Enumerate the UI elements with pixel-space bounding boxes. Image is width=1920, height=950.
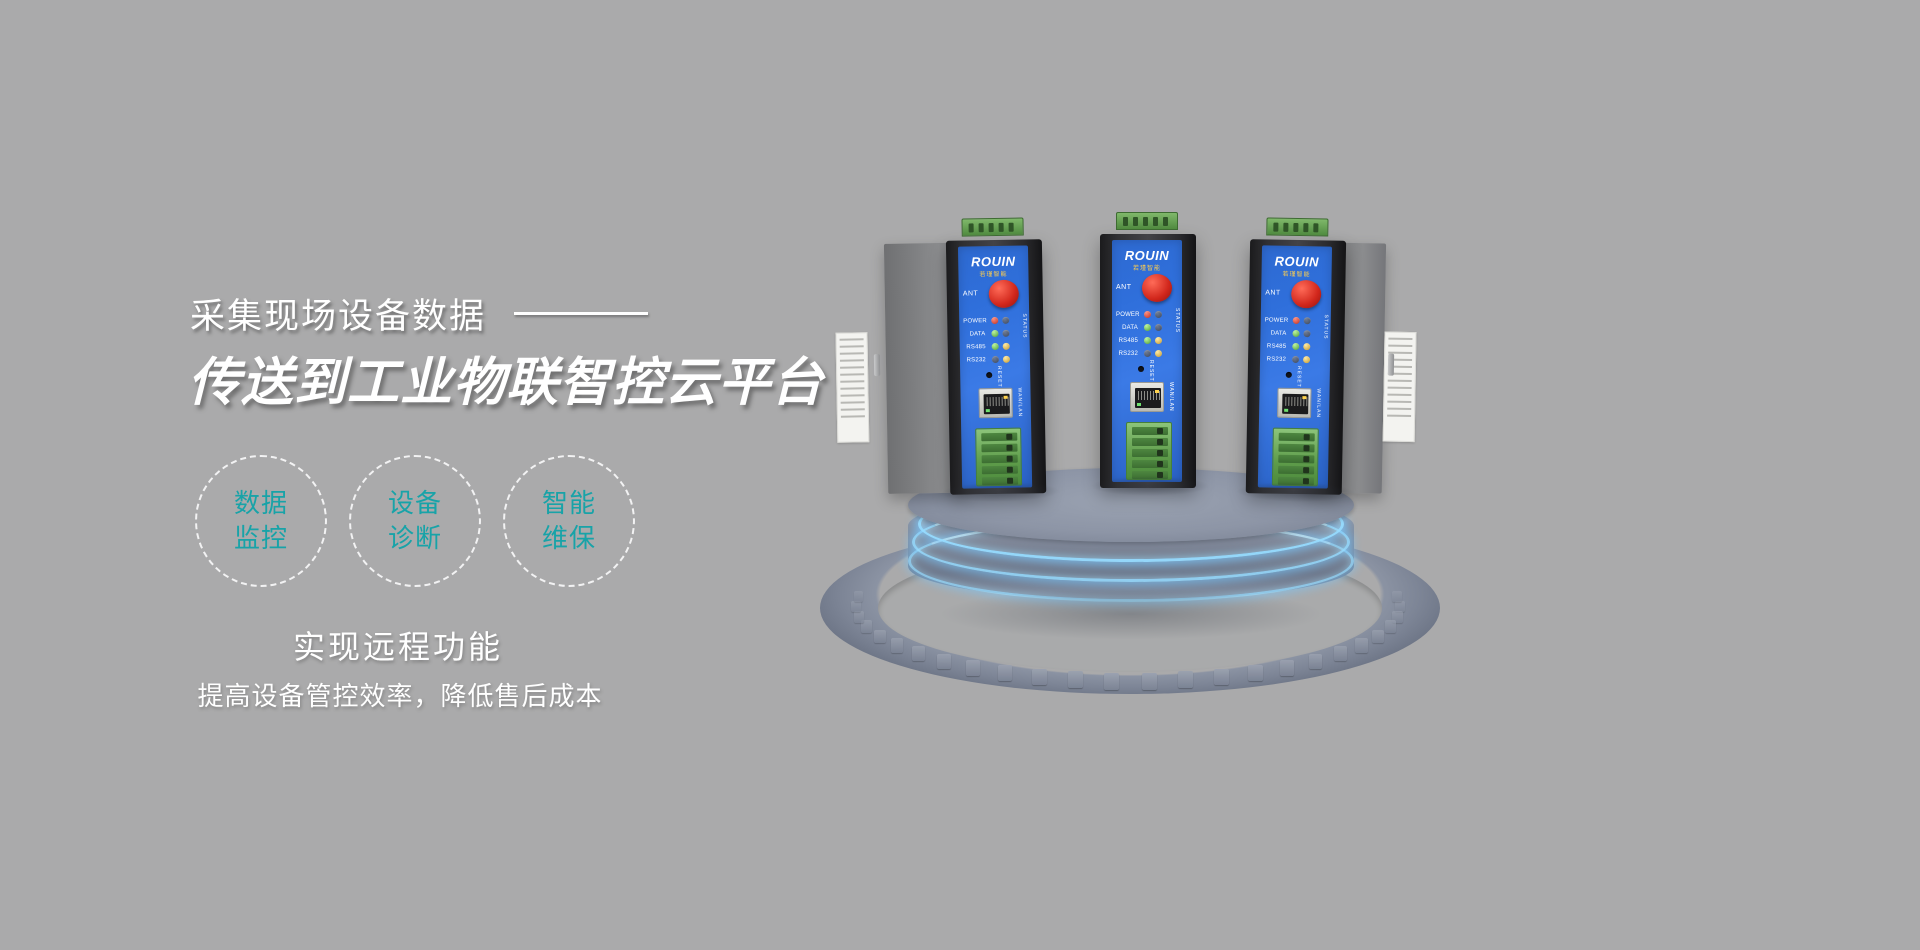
rj45-pin	[999, 397, 1000, 406]
gear-tooth	[1068, 671, 1083, 688]
led-indicator-icon	[1292, 343, 1299, 350]
led-label: DATA	[963, 331, 987, 337]
feature-circle-smart-maintenance[interactable]: 智能 维保	[503, 455, 635, 587]
led-indicator-icon	[992, 343, 999, 350]
rj45-pin	[1150, 391, 1151, 400]
gear-tooth	[1334, 646, 1347, 661]
led-indicator-icon	[1003, 356, 1010, 363]
top-terminal-block	[1266, 217, 1328, 236]
device-front-panel: ROUIN 若瑾智能 ANT POWERDATARS485RS232 STATU…	[958, 245, 1032, 488]
gear-tooth	[874, 630, 886, 643]
brand-logo: ROUIN	[958, 253, 1028, 269]
led-row: DATA	[1264, 326, 1326, 340]
gear-tooth	[998, 665, 1012, 681]
terminal-slot	[1132, 427, 1168, 435]
led-indicator-list: POWERDATARS485RS232	[1116, 308, 1178, 360]
gear-tooth	[1178, 671, 1193, 688]
rj45-pin	[1138, 391, 1139, 400]
gear-tooth	[854, 611, 865, 623]
rj45-pin	[1141, 391, 1142, 400]
terminal-slot	[981, 444, 1017, 453]
antenna-connector-icon	[1291, 280, 1321, 309]
gear-tooth	[912, 646, 925, 661]
led-indicator-icon	[1304, 317, 1311, 324]
reset-label: RESET	[996, 366, 1002, 388]
reset-label: RESET	[1148, 360, 1154, 382]
led-row: POWER	[963, 313, 1025, 327]
led-indicator-icon	[1144, 350, 1151, 357]
gear-tooth	[1214, 669, 1229, 686]
gear-tooth	[1392, 591, 1401, 601]
rj45-act-led	[1155, 390, 1159, 393]
status-label: STATUS	[1174, 308, 1180, 333]
led-row: RS485	[1264, 339, 1326, 353]
gear-tooth	[891, 638, 904, 652]
reset-label: RESET	[1296, 366, 1302, 388]
rj45-link-led	[986, 409, 990, 412]
led-row: RS232	[964, 352, 1026, 366]
led-row: POWER	[1265, 313, 1327, 327]
gear-tooth	[1372, 630, 1384, 643]
eyebrow-row: 采集现场设备数据	[190, 288, 648, 339]
gear-tooth	[1355, 638, 1368, 652]
rj45-act-led	[1302, 396, 1306, 399]
gear-tooth	[966, 660, 980, 676]
rj45-pin	[1285, 397, 1286, 406]
gear-tooth	[1142, 673, 1157, 690]
terminal-slot	[1132, 449, 1168, 457]
led-label: RS232	[1264, 356, 1288, 362]
brand-logo: ROUIN	[1112, 248, 1182, 263]
product-scene: ROUIN 若瑾智能 ANT POWERDATARS485RS232 STATU…	[800, 180, 1560, 740]
led-row: RS232	[1264, 352, 1326, 366]
led-label: POWER	[1265, 317, 1289, 323]
led-indicator-icon	[1144, 311, 1151, 318]
terminal-slot	[982, 455, 1018, 464]
led-label: RS232	[1116, 351, 1140, 357]
sub-description: 提高设备管控效率，降低售后成本	[140, 676, 660, 713]
sub-headline: 实现远程功能	[188, 622, 608, 668]
led-indicator-icon	[1144, 337, 1151, 344]
led-label: RS485	[964, 344, 988, 350]
gear-tooth	[937, 654, 951, 669]
rj45-pin	[1002, 397, 1003, 406]
device-spec-label	[1383, 332, 1417, 443]
gateway-device-middle[interactable]: ROUIN 若瑾智能 ANT POWERDATARS485RS232 STATU…	[1100, 226, 1196, 488]
feature-circle-device-diagnostics[interactable]: 设备 诊断	[349, 455, 481, 587]
led-label: POWER	[963, 318, 987, 324]
led-label: POWER	[1116, 312, 1140, 318]
gear-tooth	[1104, 673, 1119, 690]
device-spec-label	[835, 332, 869, 443]
gateway-device-right[interactable]: ROUIN 若瑾智能 ANT POWERDATARS485RS232 STATU…	[1246, 231, 1347, 495]
led-indicator-icon	[1002, 317, 1009, 324]
gear-tooth	[1309, 654, 1323, 669]
rj45-ethernet-port	[978, 388, 1013, 419]
rj45-pin	[1159, 391, 1160, 400]
led-row: RS232	[1116, 347, 1178, 360]
led-indicator-icon	[1003, 343, 1010, 350]
terminal-slot	[1279, 433, 1315, 442]
lan-label: WAN/LAN	[1016, 388, 1023, 418]
rj45-link-led	[1284, 409, 1288, 412]
rj45-pin	[1291, 397, 1292, 406]
gear-tooth	[1032, 669, 1047, 686]
feature-label-line1: 设备	[388, 486, 442, 521]
led-indicator-icon	[991, 330, 998, 337]
brand-logo: ROUIN	[1262, 253, 1332, 269]
device-front-panel: ROUIN 若瑾智能 ANT POWERDATARS485RS232 STATU…	[1112, 240, 1182, 482]
led-indicator-icon	[1303, 330, 1310, 337]
brand-logo-cn: 若瑾智能	[958, 268, 1028, 278]
status-label: STATUS	[1021, 313, 1027, 338]
terminal-slot	[1278, 444, 1314, 453]
led-label: DATA	[1116, 325, 1140, 331]
rj45-link-led	[1137, 403, 1141, 406]
led-indicator-icon	[1303, 356, 1310, 363]
feature-label-line2: 诊断	[388, 521, 442, 556]
gear-tooth	[1248, 665, 1262, 681]
rj45-ethernet-port	[1130, 382, 1164, 412]
rj45-pin	[1288, 397, 1289, 406]
reset-button[interactable]	[1286, 372, 1292, 378]
status-label: STATUS	[1322, 314, 1328, 339]
led-indicator-icon	[1155, 337, 1162, 344]
eyebrow-text: 采集现场设备数据	[190, 288, 486, 339]
terminal-slot	[982, 466, 1018, 475]
terminal-slot	[1132, 460, 1168, 468]
led-row: DATA	[1116, 321, 1178, 334]
feature-label-line2: 维保	[542, 521, 596, 556]
din-rail-clip	[1388, 354, 1394, 376]
rj45-pin	[1294, 397, 1295, 406]
led-indicator-icon	[991, 317, 998, 324]
feature-circle-group: 数据 监控 设备 诊断 智能 维保	[195, 455, 635, 587]
led-label: RS485	[1264, 343, 1288, 349]
antenna-connector-icon	[1142, 274, 1172, 302]
rj45-pin	[987, 397, 988, 406]
reset-button[interactable]	[1138, 366, 1144, 372]
bottom-terminal-block	[975, 428, 1022, 487]
antenna-connector-icon	[989, 280, 1019, 309]
brand-logo-cn: 若瑾智能	[1112, 263, 1182, 272]
copy-block: 采集现场设备数据 传送到工业物联智控云平台 数据 监控 设备 诊断 智能 维保 …	[0, 0, 900, 950]
led-indicator-icon	[1293, 317, 1300, 324]
terminal-slot	[981, 433, 1017, 442]
led-indicator-list: POWERDATARS485RS232	[1264, 313, 1327, 366]
lan-label: WAN/LAN	[1315, 388, 1322, 418]
feature-label-line2: 监控	[234, 521, 288, 556]
bottom-terminal-block	[1272, 428, 1319, 487]
led-label: DATA	[1264, 330, 1288, 336]
rj45-act-led	[1004, 396, 1008, 399]
rj45-pin	[1144, 391, 1145, 400]
feature-circle-data-monitoring[interactable]: 数据 监控	[195, 455, 327, 587]
brand-logo-cn: 若瑾智能	[1261, 268, 1331, 278]
led-row: RS485	[964, 339, 1026, 353]
led-indicator-icon	[1303, 343, 1310, 350]
led-indicator-icon	[1292, 356, 1299, 363]
dais-shadow	[938, 588, 1324, 640]
led-indicator-icon	[992, 356, 999, 363]
rj45-ethernet-port	[1277, 388, 1312, 419]
antenna-label: ANT	[963, 290, 979, 297]
led-indicator-icon	[1155, 324, 1162, 331]
rj45-pin	[996, 397, 997, 406]
led-label: RS485	[1116, 338, 1140, 344]
top-terminal-block	[1116, 212, 1178, 230]
gear-tooth	[1280, 660, 1294, 676]
rj45-pin	[990, 397, 991, 406]
led-row: RS485	[1116, 334, 1178, 347]
banner-stage: 采集现场设备数据 传送到工业物联智控云平台 数据 监控 设备 诊断 智能 维保 …	[0, 0, 1920, 950]
led-indicator-icon	[1155, 311, 1162, 318]
reset-button[interactable]	[986, 372, 992, 378]
gateway-device-left[interactable]: ROUIN 若瑾智能 ANT POWERDATARS485RS232 STATU…	[946, 231, 1047, 495]
lan-label: WAN/LAN	[1168, 382, 1174, 412]
rj45-pin	[993, 397, 994, 406]
bottom-terminal-block	[1126, 422, 1172, 480]
device-front-panel: ROUIN 若瑾智能 ANT POWERDATARS485RS232 STATU…	[1258, 245, 1332, 488]
page-title: 传送到工业物联智控云平台	[188, 340, 824, 415]
eyebrow-rule	[514, 312, 648, 315]
rj45-pin	[1153, 391, 1154, 400]
rj45-pin	[1147, 391, 1148, 400]
rj45-pin	[1300, 397, 1301, 406]
led-indicator-icon	[1144, 324, 1151, 331]
din-rail-clip	[874, 354, 880, 376]
led-indicator-icon	[1292, 330, 1299, 337]
antenna-label: ANT	[1265, 289, 1281, 296]
feature-label-line1: 数据	[234, 486, 288, 521]
led-indicator-icon	[1155, 350, 1162, 357]
rj45-pin	[1306, 397, 1307, 406]
terminal-slot	[1278, 455, 1314, 464]
led-indicator-icon	[1002, 330, 1009, 337]
led-label: RS232	[964, 357, 988, 363]
gear-tooth	[851, 601, 861, 612]
feature-label-line1: 智能	[542, 486, 596, 521]
terminal-slot	[1132, 438, 1168, 446]
top-terminal-block	[961, 217, 1023, 236]
device-shadow	[1090, 476, 1210, 496]
led-row: POWER	[1116, 308, 1178, 321]
terminal-slot	[1278, 466, 1314, 475]
led-indicator-list: POWERDATARS485RS232	[963, 313, 1026, 366]
antenna-label: ANT	[1116, 284, 1132, 291]
rj45-pin	[1297, 397, 1298, 406]
gear-tooth	[1385, 620, 1396, 633]
rj45-pin	[1008, 397, 1009, 406]
gear-tooth	[854, 591, 863, 601]
led-row: DATA	[963, 326, 1025, 340]
